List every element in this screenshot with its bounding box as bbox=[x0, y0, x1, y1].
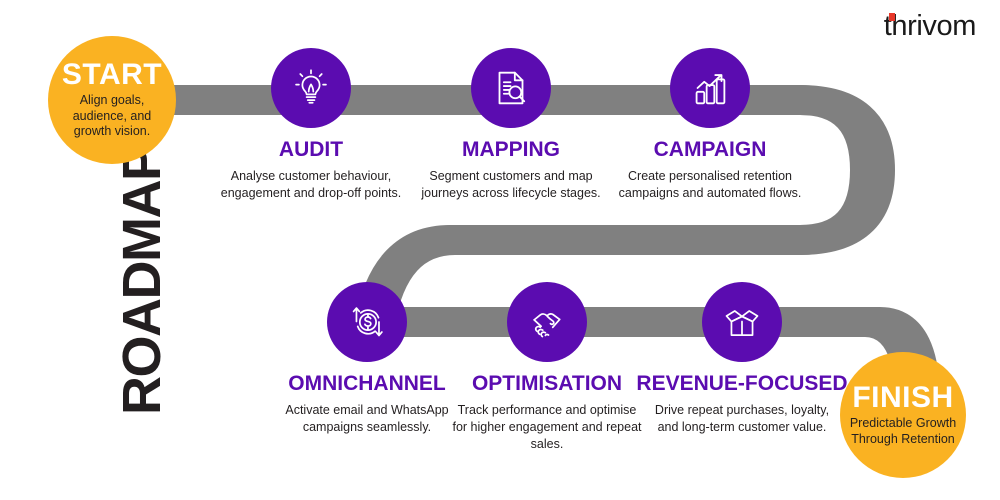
stage-optimisation-circle[interactable] bbox=[507, 282, 587, 362]
stage-campaign-description: Create personalised retention campaigns … bbox=[615, 168, 805, 202]
logo-wordmark: thrivom bbox=[884, 12, 976, 41]
stage-revenue-focused-circle[interactable] bbox=[702, 282, 782, 362]
stage-revenue-focused[interactable]: REVENUE-FOCUSED Drive repeat purchases, … bbox=[637, 282, 847, 436]
open-box-icon bbox=[719, 299, 765, 345]
stage-mapping[interactable]: MAPPING Segment customers and map journe… bbox=[406, 48, 616, 202]
stage-omnichannel-label: OMNICHANNEL bbox=[288, 372, 446, 396]
stage-campaign-circle[interactable] bbox=[670, 48, 750, 128]
stage-mapping-circle[interactable] bbox=[471, 48, 551, 128]
stage-audit[interactable]: AUDIT Analyse customer behaviour, engage… bbox=[206, 48, 416, 202]
roadmap-infographic: thrivom ROADMAP RETENTION STRATEGY FLOW … bbox=[0, 0, 1000, 500]
start-description: Align goals, audience, and growth vision… bbox=[48, 93, 176, 140]
start-label: START bbox=[62, 60, 162, 90]
stage-audit-circle[interactable] bbox=[271, 48, 351, 128]
stage-audit-description: Analyse customer behaviour, engagement a… bbox=[216, 168, 406, 202]
dollar-cycle-icon bbox=[344, 299, 390, 345]
brand-logo: thrivom bbox=[884, 12, 976, 41]
growth-chart-icon bbox=[687, 65, 733, 111]
logo-accent-flag-icon bbox=[889, 13, 895, 21]
stage-revenue-focused-description: Drive repeat purchases, loyalty, and lon… bbox=[647, 402, 837, 436]
finish-node[interactable]: FINISH Predictable Growth Through Retent… bbox=[840, 352, 966, 478]
stage-audit-label: AUDIT bbox=[279, 138, 343, 162]
document-search-icon bbox=[488, 65, 534, 111]
stage-campaign[interactable]: CAMPAIGN Create personalised retention c… bbox=[605, 48, 815, 202]
stage-mapping-description: Segment customers and map journeys acros… bbox=[416, 168, 606, 202]
start-node[interactable]: START Align goals, audience, and growth … bbox=[48, 36, 176, 164]
stage-revenue-focused-label: REVENUE-FOCUSED bbox=[636, 372, 847, 396]
finish-description: Predictable Growth Through Retention bbox=[840, 416, 966, 447]
finish-label: FINISH bbox=[852, 383, 953, 413]
stage-omnichannel-circle[interactable] bbox=[327, 282, 407, 362]
stage-optimisation-description: Track performance and optimise for highe… bbox=[452, 402, 642, 453]
stage-omnichannel[interactable]: OMNICHANNEL Activate email and WhatsApp … bbox=[262, 282, 472, 436]
roadmap-heading: ROADMAP bbox=[118, 147, 168, 416]
stage-mapping-label: MAPPING bbox=[462, 138, 560, 162]
lightbulb-icon bbox=[288, 65, 334, 111]
stage-campaign-label: CAMPAIGN bbox=[654, 138, 767, 162]
stage-omnichannel-description: Activate email and WhatsApp campaigns se… bbox=[272, 402, 462, 436]
stage-optimisation-label: OPTIMISATION bbox=[472, 372, 622, 396]
handshake-icon bbox=[524, 299, 570, 345]
stage-optimisation[interactable]: OPTIMISATION Track performance and optim… bbox=[442, 282, 652, 453]
